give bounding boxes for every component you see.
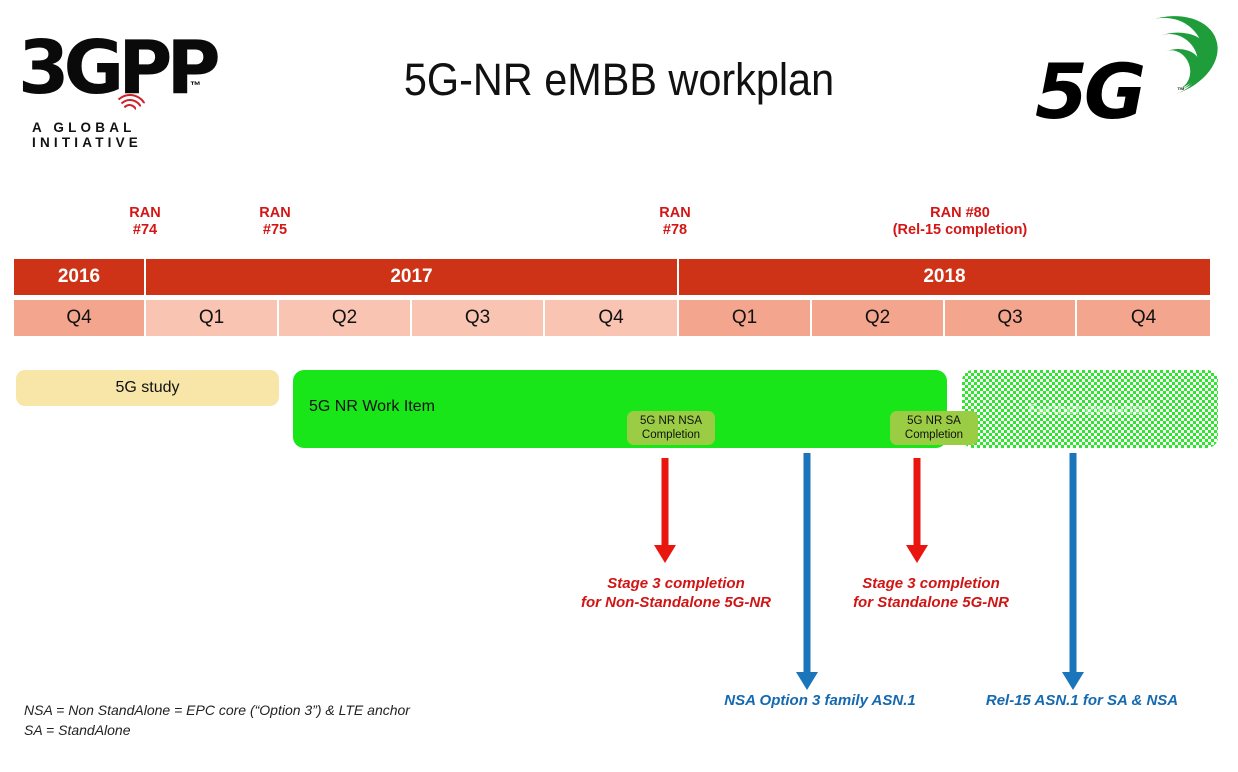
bar-5g-nr-work-item-label: 5G NR Work Item (309, 398, 435, 416)
ran-marker-2: RAN #78 (630, 205, 720, 239)
timeline-quarter-1: Q1 (146, 300, 279, 336)
timeline-quarter-7: Q3 (945, 300, 1077, 336)
timeline-quarter-5: Q1 (679, 300, 812, 336)
arrow-shaft (662, 458, 669, 545)
arrow-nsa-stage3 (654, 458, 676, 563)
timeline-year-row: 201620172018 (14, 259, 1210, 295)
timeline-quarter-8: Q4 (1077, 300, 1210, 336)
arrow-sa-stage3 (906, 458, 928, 563)
arrow-shaft (914, 458, 921, 545)
ran-marker-3: RAN #80 (Rel-15 completion) (860, 205, 1060, 239)
bar-5g-study-label: 5G study (115, 379, 179, 397)
timeline-year-2016: 2016 (14, 259, 146, 295)
timeline-quarter-6: Q2 (812, 300, 945, 336)
bar-further-evolution: Further evolution (962, 370, 1218, 448)
arrow-head-icon (906, 545, 928, 563)
page-title: 5G-NR eMBB workplan (50, 54, 1189, 106)
timeline-quarter-2: Q2 (279, 300, 412, 336)
timeline-year-2017: 2017 (146, 259, 679, 295)
arrow-nsa-asn1 (796, 453, 818, 690)
ran-marker-0: RAN #74 (100, 205, 190, 239)
bar-further-evolution-label: Further evolution (1028, 401, 1151, 418)
slide-canvas: 3GPP ™ A GLOBAL INITIATIVE 5G ™ 5G-NR eM… (0, 0, 1238, 772)
bar-5g-study: 5G study (16, 370, 279, 406)
3gpp-tagline: A GLOBAL INITIATIVE (32, 120, 232, 150)
arrow-rel15-asn1 (1062, 453, 1084, 690)
annotation-blue-0: NSA Option 3 family ASN.1 (700, 691, 940, 710)
ran-marker-1: RAN #75 (230, 205, 320, 239)
footnote: NSA = Non StandAlone = EPC core (“Option… (24, 700, 544, 740)
timeline-quarter-3: Q3 (412, 300, 545, 336)
milestone-0: 5G NR NSA Completion (627, 411, 715, 445)
milestone-1: 5G NR SA Completion (890, 411, 978, 445)
arrow-shaft (804, 453, 811, 672)
arrow-head-icon (1062, 672, 1084, 690)
timeline-year-2018: 2018 (679, 259, 1210, 295)
arrow-head-icon (796, 672, 818, 690)
annotation-red-1: Stage 3 completion for Standalone 5G-NR (826, 574, 1036, 612)
annotation-blue-1: Rel-15 ASN.1 for SA & NSA (962, 691, 1202, 710)
timeline-quarter-row: Q4Q1Q2Q3Q4Q1Q2Q3Q4 (14, 300, 1210, 336)
arrow-shaft (1070, 453, 1077, 672)
timeline-quarter-0: Q4 (14, 300, 146, 336)
timeline-quarter-4: Q4 (545, 300, 679, 336)
arrow-head-icon (654, 545, 676, 563)
annotation-red-0: Stage 3 completion for Non-Standalone 5G… (560, 574, 792, 612)
bar-5g-nr-work-item: 5G NR Work Item (293, 370, 947, 448)
